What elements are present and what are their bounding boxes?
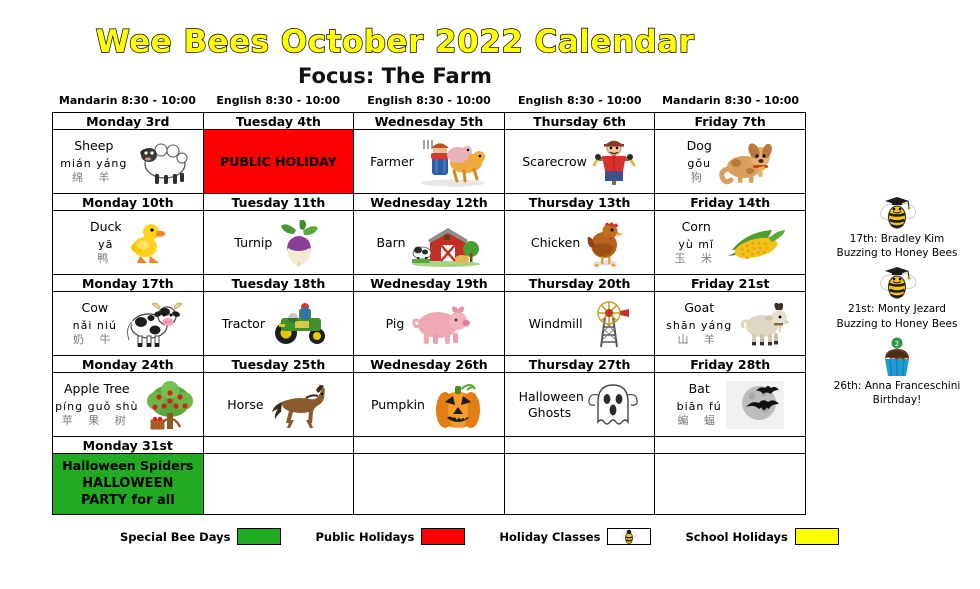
calendar-cell-scarecrow[interactable]: Scarecrow bbox=[504, 130, 655, 194]
vocab-hanzi: 狗 bbox=[691, 171, 708, 185]
cell-content: Tractor bbox=[204, 292, 354, 355]
day-header-tuesday-4th: Tuesday 4th bbox=[203, 113, 354, 130]
announcement-line2: Buzzing to Honey Bees bbox=[818, 246, 976, 260]
calendar-content-row: Sheepmián yáng绵 羊PUBLIC HOLIDAYFarmerSca… bbox=[53, 130, 806, 194]
vocab-english: Apple Tree bbox=[64, 381, 130, 397]
cell-content: Sheepmián yáng绵 羊 bbox=[53, 130, 203, 193]
vocab-hanzi: 鸭 bbox=[97, 252, 114, 266]
announcement-line1: 21st: Monty Jezard bbox=[818, 302, 976, 316]
cell-content: Farmer bbox=[354, 130, 504, 193]
vocab-labels: Duckyā鸭 bbox=[90, 219, 122, 266]
calendar-header-row: Monday 24thTuesday 25thWednesday 26thThu… bbox=[53, 356, 806, 373]
calendar-cell-goat[interactable]: Goatshān yáng山 羊 bbox=[655, 292, 806, 356]
page-title: Wee Bees October 2022 Calendar bbox=[0, 24, 790, 60]
legend-swatch bbox=[795, 528, 839, 545]
announcement-3: 226th: Anna FranceschiniBirthday! bbox=[818, 337, 976, 407]
vocab-hanzi: 玉 米 bbox=[674, 252, 718, 266]
vocab-english: Corn bbox=[682, 219, 711, 235]
ghost-image bbox=[585, 381, 641, 429]
calendar-header-row: Monday 3rdTuesday 4thWednesday 5thThursd… bbox=[53, 113, 806, 130]
special-day-line2: HALLOWEEN PARTY for all bbox=[59, 475, 197, 510]
vocab-labels: Tractor bbox=[222, 316, 265, 332]
day-header-thursday-6th: Thursday 6th bbox=[504, 113, 655, 130]
day-header-monday-24th: Monday 24th bbox=[53, 356, 204, 373]
cupcake-icon: 2 bbox=[818, 337, 976, 377]
calendar-cell-halloween-party[interactable]: Halloween SpidersHALLOWEEN PARTY for all bbox=[53, 454, 204, 515]
vocab-labels: Batbiān fú蝙 蝠 bbox=[677, 381, 722, 428]
vocab-labels: Scarecrow bbox=[522, 154, 587, 170]
class-time-3: English 8:30 - 10:00 bbox=[504, 94, 655, 107]
goat-image bbox=[736, 301, 794, 347]
cell-content: Batbiān fú蝙 蝠 bbox=[655, 373, 805, 436]
corn-image bbox=[722, 222, 786, 264]
legend: Special Bee DaysPublic HolidaysHoliday C… bbox=[120, 528, 839, 545]
day-header-wednesday-26th: Wednesday 26th bbox=[354, 356, 505, 373]
day-header-friday-21st: Friday 21st bbox=[655, 275, 806, 292]
vocab-pinyin: biān fú bbox=[677, 400, 722, 414]
vocab-pinyin: nǎi niú bbox=[73, 319, 117, 333]
calendar-cell-tractor[interactable]: Tractor bbox=[203, 292, 354, 356]
cell-content: Goatshān yáng山 羊 bbox=[655, 292, 805, 355]
cell-content: Turnip bbox=[204, 211, 354, 274]
class-time-1: English 8:30 - 10:00 bbox=[203, 94, 354, 107]
day-header-thursday-20th: Thursday 20th bbox=[504, 275, 655, 292]
cell-content: Cownǎi niú奶 牛 bbox=[53, 292, 203, 355]
turnip-image bbox=[276, 220, 322, 266]
announcements-sidebar: 17th: Bradley KimBuzzing to Honey Bees21… bbox=[818, 196, 976, 413]
calendar-cell-chicken[interactable]: Chicken bbox=[504, 211, 655, 275]
cell-content: Horse bbox=[204, 373, 354, 436]
vocab-labels: Windmill bbox=[529, 316, 583, 332]
vocab-pinyin: gǒu bbox=[687, 157, 711, 171]
vocab-english: Bat bbox=[689, 381, 710, 397]
vocab-labels: Halloween Ghosts bbox=[519, 389, 581, 420]
calendar-table: Monday 3rdTuesday 4thWednesday 5thThursd… bbox=[52, 112, 806, 515]
vocab-hanzi: 蝙 蝠 bbox=[677, 414, 721, 428]
calendar-content-row: Duckyā鸭TurnipBarnChickenCornyù mǐ玉 米 bbox=[53, 211, 806, 275]
vocab-labels: Barn bbox=[376, 235, 405, 251]
horse-image bbox=[268, 382, 330, 428]
vocab-pinyin: píng guǒ shù bbox=[55, 400, 138, 414]
vocab-labels: Doggǒu狗 bbox=[687, 138, 712, 185]
announcement-line2: Buzzing to Honey Bees bbox=[818, 317, 976, 331]
vocab-labels: Horse bbox=[227, 397, 263, 413]
scarecrow-image bbox=[591, 137, 637, 187]
vocab-english: Windmill bbox=[529, 316, 583, 332]
vocab-labels: Chicken bbox=[531, 235, 580, 251]
calendar-cell-cow[interactable]: Cownǎi niú奶 牛 bbox=[53, 292, 204, 356]
calendar-content-row: Apple Treepíng guǒ shù苹 果 树HorsePumpkinH… bbox=[53, 373, 806, 437]
legend-swatch bbox=[237, 528, 281, 545]
day-header-monday-3rd: Monday 3rd bbox=[53, 113, 204, 130]
day-header-thursday-13th: Thursday 13th bbox=[504, 194, 655, 211]
duck-image bbox=[126, 219, 166, 267]
day-header-monday-17th: Monday 17th bbox=[53, 275, 204, 292]
vocab-hanzi: 苹 果 树 bbox=[62, 414, 132, 428]
graduation-bee-icon bbox=[818, 196, 976, 230]
vocab-english: Turnip bbox=[234, 235, 272, 251]
vocab-english: Halloween Ghosts bbox=[519, 389, 581, 420]
vocab-pinyin: yā bbox=[98, 238, 113, 252]
calendar-page: Wee Bees October 2022 Calendar Focus: Th… bbox=[0, 0, 980, 589]
calendar-header-row: Monday 17thTuesday 18thWednesday 19thThu… bbox=[53, 275, 806, 292]
day-header-friday-14th: Friday 14th bbox=[655, 194, 806, 211]
announcement-line2: Birthday! bbox=[818, 393, 976, 407]
vocab-labels: Cornyù mǐ玉 米 bbox=[674, 219, 718, 266]
legend-item-public-holidays: Public Holidays bbox=[315, 528, 465, 545]
sheep-image bbox=[131, 138, 195, 186]
announcement-line1: 17th: Bradley Kim bbox=[818, 232, 976, 246]
vocab-labels: Pumpkin bbox=[371, 397, 425, 413]
vocab-pinyin: shān yáng bbox=[666, 319, 732, 333]
day-header-thursday-27th: Thursday 27th bbox=[504, 356, 655, 373]
calendar-cell-windmill[interactable]: Windmill bbox=[504, 292, 655, 356]
class-time-2: English 8:30 - 10:00 bbox=[354, 94, 505, 107]
calendar-cell-halloween-ghosts[interactable]: Halloween Ghosts bbox=[504, 373, 655, 437]
vocab-english: Scarecrow bbox=[522, 154, 587, 170]
day-header-empty bbox=[504, 437, 655, 454]
cell-content: Halloween Ghosts bbox=[505, 373, 655, 436]
calendar-cell-apple-tree[interactable]: Apple Treepíng guǒ shù苹 果 树 bbox=[53, 373, 204, 437]
windmill-image bbox=[587, 299, 631, 349]
calendar-cell-pumpkin[interactable]: Pumpkin bbox=[354, 373, 505, 437]
vocab-hanzi: 山 羊 bbox=[677, 333, 721, 347]
calendar-header-row: Monday 31st bbox=[53, 437, 806, 454]
day-header-tuesday-25th: Tuesday 25th bbox=[203, 356, 354, 373]
vocab-labels: Farmer bbox=[370, 154, 414, 170]
calendar-cell-public-holiday[interactable]: PUBLIC HOLIDAY bbox=[203, 130, 354, 194]
legend-item-holiday-classes: Holiday Classes bbox=[499, 528, 651, 545]
vocab-labels: Goatshān yáng山 羊 bbox=[666, 300, 732, 347]
vocab-english: Cow bbox=[81, 300, 108, 316]
cell-content: Cornyù mǐ玉 米 bbox=[655, 211, 805, 274]
day-header-friday-28th: Friday 28th bbox=[655, 356, 806, 373]
pumpkin-image bbox=[429, 380, 487, 430]
day-header-wednesday-5th: Wednesday 5th bbox=[354, 113, 505, 130]
tractor-image bbox=[269, 302, 335, 346]
pig-image bbox=[408, 303, 472, 345]
vocab-english: Sheep bbox=[74, 138, 113, 154]
class-times-row: Mandarin 8:30 - 10:00 English 8:30 - 10:… bbox=[52, 94, 806, 107]
calendar-cell-pig[interactable]: Pig bbox=[354, 292, 505, 356]
vocab-pinyin: mián yáng bbox=[60, 157, 127, 171]
day-header-empty bbox=[354, 437, 505, 454]
vocab-english: Barn bbox=[376, 235, 405, 251]
day-header-empty bbox=[655, 437, 806, 454]
legend-label: Holiday Classes bbox=[499, 530, 600, 544]
vocab-english: Farmer bbox=[370, 154, 414, 170]
legend-label: School Holidays bbox=[685, 530, 787, 544]
calendar-cell-empty[interactable] bbox=[354, 454, 505, 515]
legend-swatch-bee bbox=[607, 528, 651, 545]
vocab-pinyin: yù mǐ bbox=[678, 238, 714, 252]
calendar-cell-empty[interactable] bbox=[655, 454, 806, 515]
vocab-english: Goat bbox=[684, 300, 714, 316]
vocab-english: Tractor bbox=[222, 316, 265, 332]
cell-content: Duckyā鸭 bbox=[53, 211, 203, 274]
calendar-content-row: Cownǎi niú奶 牛TractorPigWindmillGoatshān … bbox=[53, 292, 806, 356]
vocab-hanzi: 绵 羊 bbox=[72, 171, 116, 185]
calendar-content-row: Halloween SpidersHALLOWEEN PARTY for all bbox=[53, 454, 806, 515]
vocab-english: Pumpkin bbox=[371, 397, 425, 413]
vocab-labels: Pig bbox=[386, 316, 405, 332]
day-header-wednesday-12th: Wednesday 12th bbox=[354, 194, 505, 211]
calendar-cell-corn[interactable]: Cornyù mǐ玉 米 bbox=[655, 211, 806, 275]
page-subtitle: Focus: The Farm bbox=[0, 64, 790, 88]
cell-content: Windmill bbox=[505, 292, 655, 355]
graduation-bee-icon bbox=[818, 266, 976, 300]
legend-item-school-holidays: School Holidays bbox=[685, 528, 838, 545]
announcement-2: 21st: Monty JezardBuzzing to Honey Bees bbox=[818, 266, 976, 330]
dog-image bbox=[716, 139, 774, 185]
calendar-cell-bat[interactable]: Batbiān fú蝙 蝠 bbox=[655, 373, 806, 437]
calendar-cell-duck[interactable]: Duckyā鸭 bbox=[53, 211, 204, 275]
calendar-cell-barn[interactable]: Barn bbox=[354, 211, 505, 275]
day-header-friday-7th: Friday 7th bbox=[655, 113, 806, 130]
cell-content: Chicken bbox=[505, 211, 655, 274]
cell-content: Scarecrow bbox=[505, 130, 655, 193]
day-header-empty bbox=[203, 437, 354, 454]
calendar-cell-sheep[interactable]: Sheepmián yáng绵 羊 bbox=[53, 130, 204, 194]
class-time-0: Mandarin 8:30 - 10:00 bbox=[52, 94, 203, 107]
announcement-1: 17th: Bradley KimBuzzing to Honey Bees bbox=[818, 196, 976, 260]
announcement-line1: 26th: Anna Franceschini bbox=[818, 379, 976, 393]
legend-item-special-bee-days: Special Bee Days bbox=[120, 528, 281, 545]
cell-content: Doggǒu狗 bbox=[655, 130, 805, 193]
calendar-cell-farmer[interactable]: Farmer bbox=[354, 130, 505, 194]
legend-label: Special Bee Days bbox=[120, 530, 230, 544]
cell-content: Apple Treepíng guǒ shù苹 果 树 bbox=[53, 373, 203, 436]
vocab-labels: Sheepmián yáng绵 羊 bbox=[60, 138, 127, 185]
special-day-text: Halloween SpidersHALLOWEEN PARTY for all bbox=[53, 454, 203, 514]
public-holiday-label: PUBLIC HOLIDAY bbox=[204, 154, 354, 169]
svg-text:2: 2 bbox=[895, 340, 899, 348]
day-header-wednesday-19th: Wednesday 19th bbox=[354, 275, 505, 292]
calendar-cell-empty[interactable] bbox=[203, 454, 354, 515]
farmer-image bbox=[418, 137, 488, 187]
vocab-english: Chicken bbox=[531, 235, 580, 251]
day-header-tuesday-11th: Tuesday 11th bbox=[203, 194, 354, 211]
day-header-tuesday-18th: Tuesday 18th bbox=[203, 275, 354, 292]
bat-moon-image bbox=[726, 381, 784, 429]
vocab-english: Dog bbox=[687, 138, 712, 154]
vocab-labels: Turnip bbox=[234, 235, 272, 251]
cell-content: Pig bbox=[354, 292, 504, 355]
legend-label: Public Holidays bbox=[315, 530, 414, 544]
chicken-image bbox=[584, 219, 628, 267]
special-day-line1: Halloween Spiders bbox=[59, 458, 197, 475]
vocab-labels: Apple Treepíng guǒ shù苹 果 树 bbox=[57, 381, 137, 428]
vocab-english: Pig bbox=[386, 316, 405, 332]
cell-content: Barn bbox=[354, 211, 504, 274]
day-header-monday-31st: Monday 31st bbox=[53, 437, 204, 454]
calendar-cell-turnip[interactable]: Turnip bbox=[203, 211, 354, 275]
calendar-cell-empty[interactable] bbox=[504, 454, 655, 515]
apple-tree-image bbox=[141, 379, 199, 431]
barn-image bbox=[410, 219, 482, 267]
vocab-english: Horse bbox=[227, 397, 263, 413]
legend-swatch bbox=[421, 528, 465, 545]
calendar-cell-horse[interactable]: Horse bbox=[203, 373, 354, 437]
cell-content: Pumpkin bbox=[354, 373, 504, 436]
class-time-4: Mandarin 8:30 - 10:00 bbox=[655, 94, 806, 107]
day-header-monday-10th: Monday 10th bbox=[53, 194, 204, 211]
calendar-cell-dog[interactable]: Doggǒu狗 bbox=[655, 130, 806, 194]
cow-image bbox=[121, 300, 183, 348]
vocab-labels: Cownǎi niú奶 牛 bbox=[73, 300, 117, 347]
vocab-hanzi: 奶 牛 bbox=[73, 333, 117, 347]
calendar-header-row: Monday 10thTuesday 11thWednesday 12thThu… bbox=[53, 194, 806, 211]
vocab-english: Duck bbox=[90, 219, 122, 235]
